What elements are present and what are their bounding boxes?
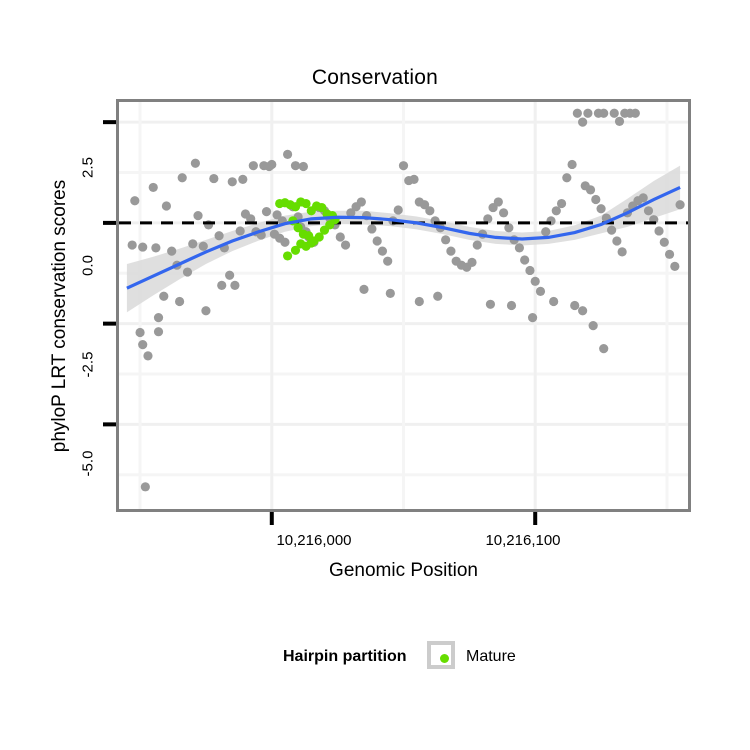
- legend-label-mature: Mature: [466, 648, 516, 666]
- conservation-chart-figure: Conservation phyloP LRT conservation sco…: [0, 0, 750, 750]
- legend-key-mature[interactable]: [427, 641, 455, 669]
- plot-panel: [0, 0, 750, 750]
- legend-title: Hairpin partition: [283, 648, 407, 666]
- legend-dot-icon: [440, 654, 449, 663]
